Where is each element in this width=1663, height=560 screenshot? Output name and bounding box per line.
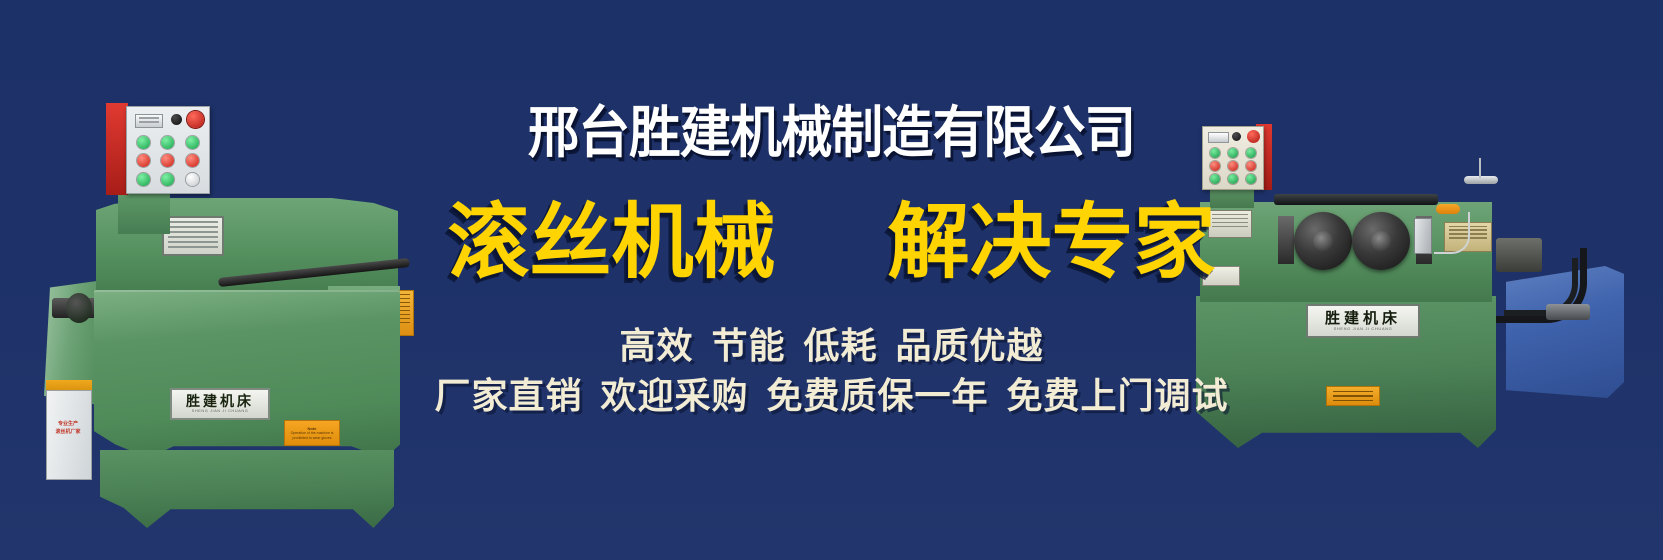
- panel-button: [137, 173, 150, 186]
- panel-button: [1210, 148, 1220, 158]
- machine-left-main-body: [94, 290, 400, 458]
- roller-die-2: [1352, 212, 1410, 270]
- machine-right-roller-assembly: [1294, 210, 1418, 280]
- machine-right-spec-plate-secondary: [1202, 266, 1240, 286]
- machine-left-base: [100, 450, 394, 528]
- door-label-line1: 专业生产: [52, 420, 84, 428]
- warning-label-text: Operation of the machine is prohibited t…: [285, 431, 339, 441]
- panel-emergency-stop-button: [1247, 130, 1260, 143]
- panel-button: [1210, 174, 1220, 184]
- panel-button: [1228, 148, 1238, 158]
- machine-right-handwheel: [1464, 176, 1498, 184]
- thread-rolling-machine-left-image: 专业生产 滚丝机厂家: [22, 90, 422, 480]
- headline-part-left: 滚丝机械: [447, 197, 775, 288]
- panel-button: [137, 154, 150, 167]
- panel-digital-display: [135, 114, 163, 128]
- machine-right-coolant-tube: [1434, 212, 1470, 254]
- panel-button: [161, 173, 174, 186]
- panel-button: [1228, 174, 1238, 184]
- panel-button: [1210, 161, 1220, 171]
- panel-button: [1246, 148, 1256, 158]
- tagline-item: 欢迎采购: [600, 375, 748, 416]
- panel-emergency-stop-button: [187, 111, 204, 128]
- door-label-line2: 滚丝机厂家: [52, 428, 84, 436]
- nameplate-pinyin: SHENG JIAN JI CHUANG: [192, 408, 249, 414]
- tagline-item: 高效: [619, 325, 693, 366]
- panel-button-grid: [1207, 147, 1259, 185]
- panel-button: [161, 136, 174, 149]
- thread-rolling-machine-right-image: 胜建机床 SHENG JIAN JI CHUANG: [1178, 118, 1578, 458]
- machine-left-spec-plate: [162, 216, 224, 256]
- roller-die-1: [1294, 212, 1352, 270]
- tagline-item: 厂家直销: [434, 375, 582, 416]
- panel-button: [186, 154, 199, 167]
- machine-left-panel-red-side: [106, 103, 128, 195]
- machine-right-spec-plate: [1208, 210, 1252, 238]
- panel-button: [186, 173, 199, 186]
- machine-right-brand-nameplate: 胜建机床 SHENG JIAN JI CHUANG: [1306, 304, 1420, 338]
- machine-left-warning-label: Note Operation of the machine is prohibi…: [284, 420, 340, 446]
- machine-right-control-panel: [1202, 126, 1264, 190]
- machine-right-valve-block: [1414, 218, 1432, 254]
- tagline-item: 免费质保一年: [767, 375, 989, 416]
- panel-button: [161, 154, 174, 167]
- tagline-item: 低耗: [804, 325, 878, 366]
- panel-button: [137, 136, 150, 149]
- headline-part-right: 解决专家: [888, 197, 1216, 288]
- hydraulic-nozzle: [1546, 304, 1590, 320]
- panel-button-grid: [133, 135, 203, 187]
- panel-selector-knob: [1232, 132, 1241, 141]
- machine-right-tie-bar: [1274, 194, 1438, 205]
- machine-left-control-panel: [126, 106, 210, 194]
- tagline-item: 节能: [711, 325, 785, 366]
- panel-button: [1246, 161, 1256, 171]
- panel-selector-knob: [171, 114, 182, 125]
- machine-left-panel-mount: [118, 190, 170, 234]
- promotional-banner: 专业生产 滚丝机厂家: [0, 0, 1663, 560]
- nameplate-chinese: 胜建机床: [186, 394, 254, 408]
- machine-left-brand-nameplate: 胜建机床 SHENG JIAN JI CHUANG: [170, 388, 270, 420]
- panel-button: [1246, 174, 1256, 184]
- panel-digital-display: [1208, 132, 1229, 143]
- panel-button: [1228, 161, 1238, 171]
- nameplate-pinyin: SHENG JIAN JI CHUANG: [1334, 326, 1393, 332]
- panel-button: [186, 136, 199, 149]
- machine-right-warning-label: [1326, 386, 1380, 406]
- machine-left-door-label: 专业生产 滚丝机厂家: [52, 420, 84, 436]
- tagline-item: 品质优越: [896, 325, 1044, 366]
- nameplate-chinese: 胜建机床: [1325, 311, 1401, 326]
- machine-right-clamp-left: [1278, 216, 1294, 264]
